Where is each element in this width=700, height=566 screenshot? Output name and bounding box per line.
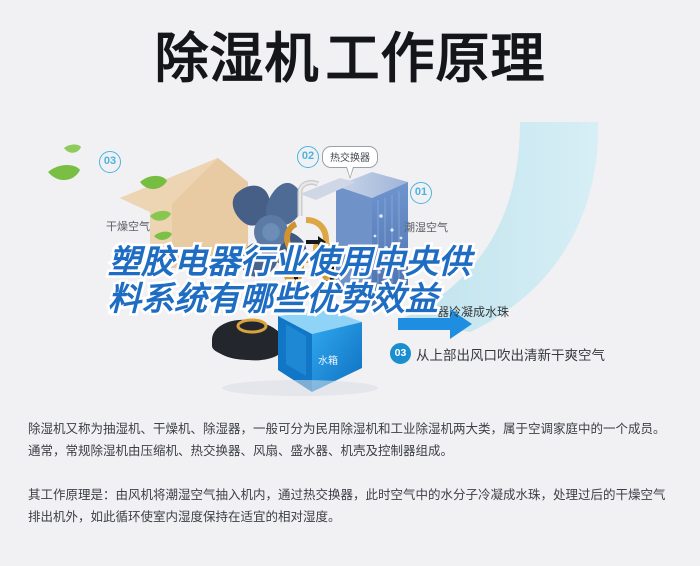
overlay-headline-line1: 塑胶电器行业使用中央供: [108, 243, 598, 280]
water-tank: [278, 310, 362, 392]
compressor: [212, 320, 284, 361]
callout-badge-01: 01: [410, 182, 432, 204]
body-paragraph-2-line-1: 其工作原理是：由风机将潮湿空气抽入机内，通过热交换器，此时空气中的水分子冷凝成水…: [28, 484, 676, 506]
body-paragraph-1: 除湿机又称为抽湿机、干燥机、除湿器，一般可分为民用除湿机和工业除湿机两大类，属于…: [28, 418, 676, 462]
callout-badge-03: 03: [99, 151, 121, 173]
body-paragraph-2-line-2: 排出机外，如此循环使室内湿度保持在适宜的相对湿度。: [28, 506, 676, 528]
part-label-water-tank: 水箱: [318, 352, 338, 367]
page-title-part2: 工作原理: [326, 29, 546, 89]
body-paragraph-1-line-2: 通常，常规除湿机由压缩机、热交换器、风扇、盛水器、机壳及控制器组成。: [28, 440, 676, 462]
overlay-headline: 塑胶电器行业使用中央供 料系统有哪些优势效益: [108, 243, 598, 317]
overlay-headline-line2: 料系统有哪些优势效益: [108, 280, 598, 317]
callout-label-heat-exchanger: 热交换器: [330, 153, 370, 164]
step-text-03: 从上部出风口吹出清新干爽空气: [416, 344, 605, 364]
callout-badge-02: 02: [297, 146, 319, 168]
step-badge-03: 03: [390, 343, 411, 364]
page-title: 除湿机工作原理: [0, 28, 700, 90]
callout-bubble-heat-exchanger: 热交换器: [322, 146, 378, 168]
page-title-part1: 除湿机: [155, 29, 320, 89]
body-paragraph-1-line-1: 除湿机又称为抽湿机、干燥机、除湿器，一般可分为民用除湿机和工业除湿机两大类，属于…: [28, 418, 676, 440]
callout-label-humid-air: 潮湿空气: [404, 219, 448, 235]
bubble-tail-icon: [346, 167, 354, 179]
body-paragraph-2: 其工作原理是：由风机将潮湿空气抽入机内，通过热交换器，此时空气中的水分子冷凝成水…: [28, 484, 676, 528]
callout-label-dry-air: 干燥空气: [106, 218, 150, 234]
page-root: 除湿机工作原理: [0, 0, 700, 566]
